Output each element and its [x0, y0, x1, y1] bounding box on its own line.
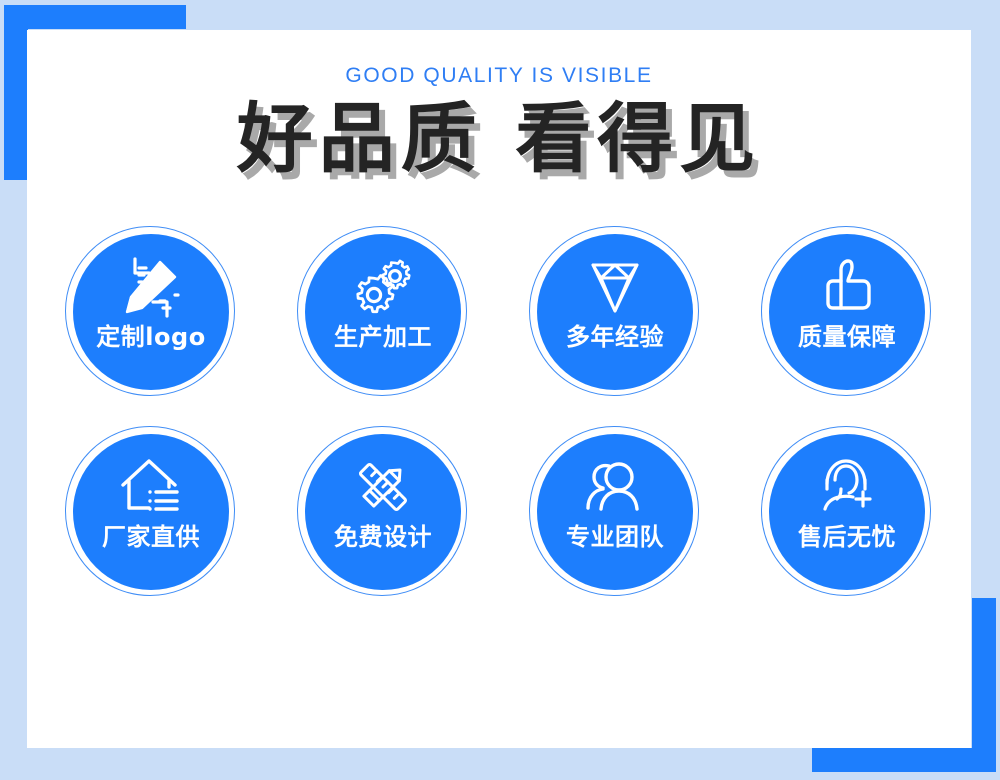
corner-bracket-top-left-vertical [4, 5, 28, 180]
corner-bracket-bottom-right-horizontal [812, 748, 996, 772]
pencil-ruler-icon [347, 456, 419, 518]
page-title: 好品质 看得见 [27, 100, 971, 178]
gears-icon [347, 256, 419, 318]
headset-support-icon [811, 456, 883, 518]
team-users-icon [579, 456, 651, 518]
feature-row: 定制logo [27, 226, 971, 398]
content-card: GOOD QUALITY IS VISIBLE 好品质 看得见 [27, 30, 971, 748]
feature-item-custom-logo[interactable]: 定制logo [65, 226, 237, 398]
feature-row: 厂家直供 [27, 426, 971, 598]
promo-banner: GOOD QUALITY IS VISIBLE 好品质 看得见 [0, 0, 1000, 780]
eyebrow-text: GOOD QUALITY IS VISIBLE [27, 65, 971, 86]
feature-label: 专业团队 [566, 524, 664, 550]
feature-item-quality[interactable]: 质量保障 [761, 226, 933, 398]
factory-house-icon [115, 456, 187, 518]
feature-label: 免费设计 [334, 524, 432, 550]
feature-label: 售后无忧 [798, 524, 896, 550]
feature-item-production[interactable]: 生产加工 [297, 226, 469, 398]
thumbs-up-icon [811, 256, 883, 318]
feature-grid: 定制logo [27, 226, 971, 598]
diamond-icon [579, 256, 651, 318]
corner-bracket-top-left-horizontal [4, 5, 186, 29]
pencil-design-icon [115, 256, 187, 318]
feature-item-professional-team[interactable]: 专业团队 [529, 426, 701, 598]
feature-label: 质量保障 [798, 324, 896, 350]
feature-item-factory-direct[interactable]: 厂家直供 [65, 426, 237, 598]
feature-label: 生产加工 [334, 324, 432, 350]
feature-item-free-design[interactable]: 免费设计 [297, 426, 469, 598]
feature-label: 定制logo [96, 324, 205, 350]
header: GOOD QUALITY IS VISIBLE 好品质 看得见 [27, 30, 971, 178]
corner-bracket-bottom-right-vertical [972, 598, 996, 772]
feature-label: 厂家直供 [102, 524, 200, 550]
feature-item-experience[interactable]: 多年经验 [529, 226, 701, 398]
feature-item-after-sales[interactable]: 售后无忧 [761, 426, 933, 598]
feature-label: 多年经验 [566, 324, 664, 350]
